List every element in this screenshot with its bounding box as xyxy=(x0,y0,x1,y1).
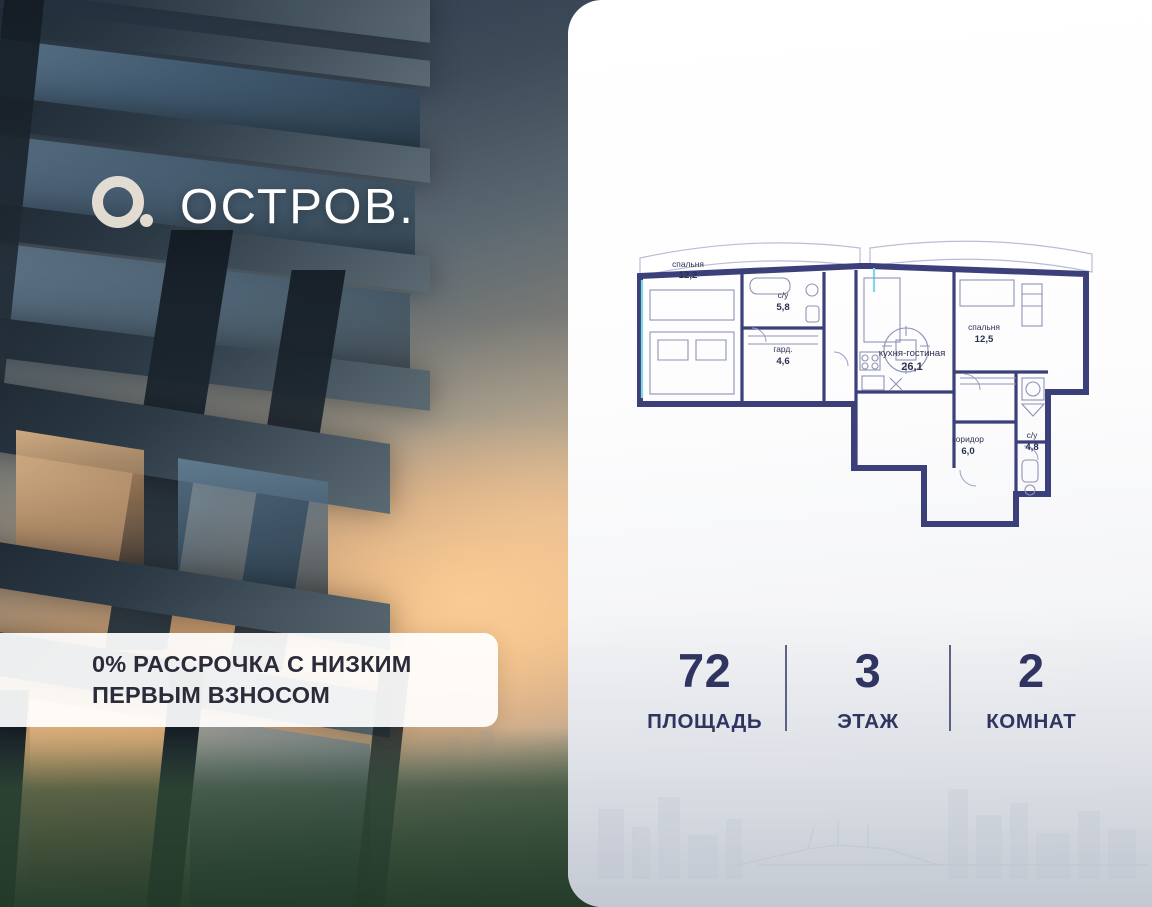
room-area-4: 12,5 xyxy=(975,334,994,345)
tree-line xyxy=(0,727,640,907)
promo-text: 0% РАССРОЧКА С НИЗКИМ ПЕРВЫМ ВЗНОСОМ xyxy=(0,649,452,711)
stat-floor-label: ЭТАЖ xyxy=(837,710,899,734)
floor-plan: .wall { fill:none; stroke:#3b3f7a; strok… xyxy=(624,232,1104,542)
promo-line-2: ПЕРВЫМ ВЗНОСОМ xyxy=(92,682,330,708)
stat-area-label: ПЛОЩАДЬ xyxy=(647,710,762,734)
room-area-0: 12,2 xyxy=(679,270,698,281)
room-area-6: 4,8 xyxy=(1025,442,1039,453)
circle-dot-logo-icon xyxy=(92,176,164,238)
room-label-4: спальня xyxy=(968,322,1000,332)
stat-rooms-value: 2 xyxy=(1018,647,1045,694)
stat-divider-2 xyxy=(949,645,951,731)
room-label-3: кухня-гостиная xyxy=(879,348,946,359)
room-label-0: спальня xyxy=(672,259,704,269)
stat-rooms-label: КОМНАТ xyxy=(986,710,1076,734)
room-label-5: коридор xyxy=(952,434,984,444)
stat-rooms: 2 КОМНАТ xyxy=(951,628,1112,752)
promo-banner: 0% РАССРОЧКА С НИЗКИМ ПЕРВЫМ ВЗНОСОМ xyxy=(0,633,498,727)
stat-floor: 3 ЭТАЖ xyxy=(787,628,948,752)
room-label-6: с/у xyxy=(1027,430,1039,440)
room-area-1: 5,8 xyxy=(776,302,790,313)
room-label-2: гард. xyxy=(773,344,792,354)
stat-floor-value: 3 xyxy=(855,647,882,694)
property-stats: 72 ПЛОЩАДЬ 3 ЭТАЖ 2 КОМНАТ xyxy=(624,628,1112,752)
stat-area-value: 72 xyxy=(678,647,731,694)
room-area-2: 4,6 xyxy=(776,356,789,367)
building-photo: ОСТРОВ. 0% РАССРОЧКА С НИЗКИМ ПЕРВЫМ ВЗН… xyxy=(0,0,640,907)
room-label-1: с/у xyxy=(778,290,790,300)
stat-divider-1 xyxy=(785,645,787,731)
promo-line-1: 0% РАССРОЧКА С НИЗКИМ xyxy=(92,651,412,677)
panel-skyline-graphic xyxy=(588,749,1148,879)
brand-name: ОСТРОВ. xyxy=(180,183,415,232)
room-area-5: 6,0 xyxy=(961,446,974,457)
listing-card: ОСТРОВ. 0% РАССРОЧКА С НИЗКИМ ПЕРВЫМ ВЗН… xyxy=(0,0,1152,907)
brand-logo: ОСТРОВ. xyxy=(92,176,415,238)
stat-area: 72 ПЛОЩАДЬ xyxy=(624,628,785,752)
info-panel: .wall { fill:none; stroke:#3b3f7a; strok… xyxy=(568,0,1152,907)
room-area-3: 26,1 xyxy=(901,361,922,373)
